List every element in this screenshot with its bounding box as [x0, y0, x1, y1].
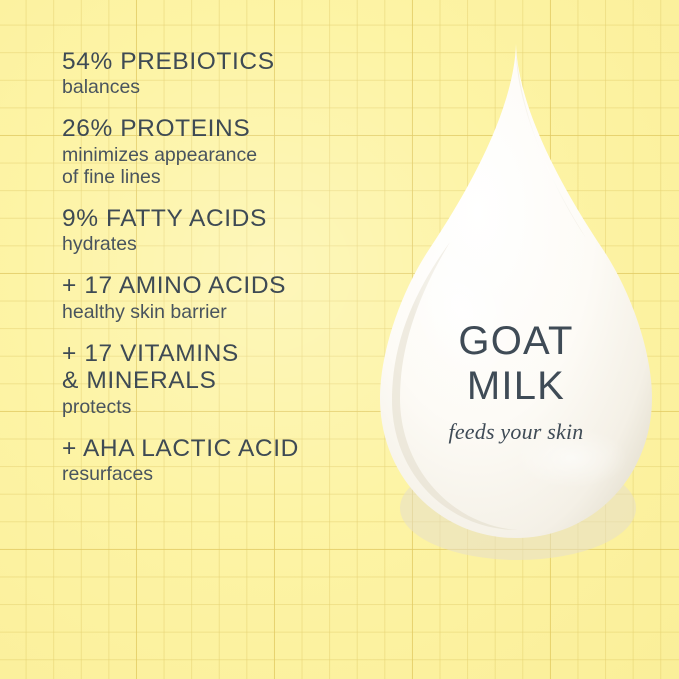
list-item: + 17 VITAMINS & MINERALS protects	[62, 340, 382, 418]
list-item: 9% FATTY ACIDS hydrates	[62, 205, 382, 255]
infographic-canvas: 54% PREBIOTICS balances 26% PROTEINS min…	[0, 0, 679, 679]
milk-droplet-icon	[366, 38, 666, 568]
fact-benefit: protects	[62, 396, 382, 418]
fact-benefit: balances	[62, 76, 382, 98]
list-item: + 17 AMINO ACIDS healthy skin barrier	[62, 272, 382, 322]
fact-title: + AHA LACTIC ACID	[62, 435, 382, 462]
fact-title: 54% PREBIOTICS	[62, 48, 382, 75]
list-item: + AHA LACTIC ACID resurfaces	[62, 435, 382, 485]
fact-title: 9% FATTY ACIDS	[62, 205, 382, 232]
list-item: 54% PREBIOTICS balances	[62, 48, 382, 98]
ingredient-fact-list: 54% PREBIOTICS balances 26% PROTEINS min…	[62, 48, 382, 502]
fact-benefit: resurfaces	[62, 463, 382, 485]
fact-title: + 17 VITAMINS & MINERALS	[62, 340, 382, 395]
list-item: 26% PROTEINS minimizes appearance of fin…	[62, 115, 382, 188]
fact-benefit: minimizes appearance of fine lines	[62, 144, 382, 188]
fact-title: 26% PROTEINS	[62, 115, 382, 142]
fact-title: + 17 AMINO ACIDS	[62, 272, 382, 299]
fact-benefit: hydrates	[62, 233, 382, 255]
fact-benefit: healthy skin barrier	[62, 301, 382, 323]
